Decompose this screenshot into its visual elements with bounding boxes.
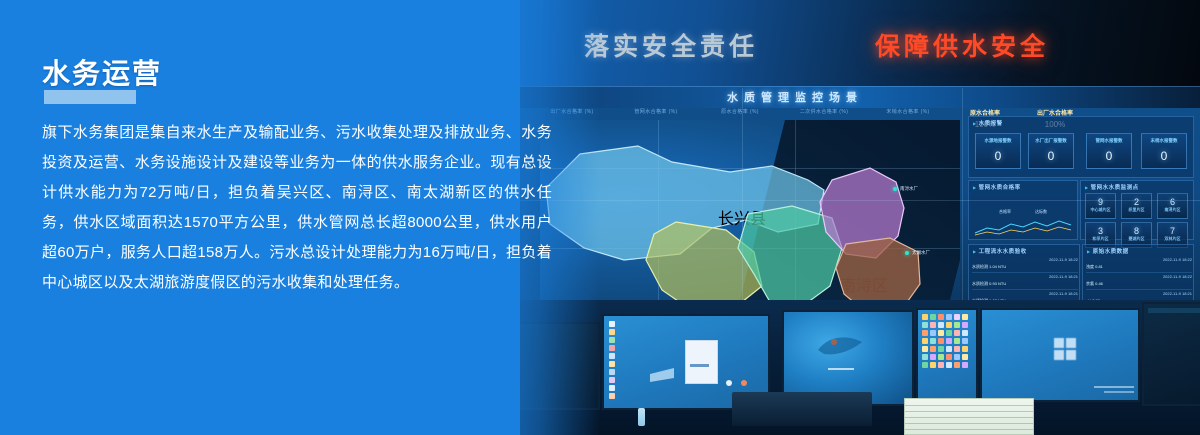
- kpi-label: 管网水合格率 (%): [614, 108, 698, 115]
- desktop-icon-grid: [922, 314, 968, 368]
- log-text: 水质检测 1.04 NTU: [972, 264, 1078, 270]
- panel-title: 原始水质数据: [1087, 247, 1129, 255]
- monitor-point-label: 南浔片区: [1158, 207, 1187, 213]
- alarm-card-label: 管网水报警数: [1087, 138, 1131, 144]
- kpi-label: 原水合格率 (%): [698, 108, 782, 115]
- monitor-point-value: 9: [1086, 197, 1115, 207]
- text-panel: 水务运营 旗下水务集团是集自来水生产及输配业务、污水收集处理及排放业务、水务投资…: [0, 0, 600, 435]
- log-time: 2022-11-9 18:22: [1086, 257, 1192, 262]
- monitor-right-dark[interactable]: [1142, 302, 1200, 406]
- legend-item: 达标数: [1035, 209, 1047, 215]
- alarm-card[interactable]: 管网水报警数 0: [1086, 133, 1132, 169]
- windows-flag-icon: [650, 368, 676, 382]
- log-time: 2022-11-9 18:21: [972, 291, 1078, 296]
- section-title: 水务运营: [42, 52, 162, 92]
- monitor-point-card[interactable]: 6 南浔片区: [1157, 193, 1188, 219]
- log-row[interactable]: 2022-11-9 18:22 水质检测 1.04 NTU: [972, 257, 1078, 273]
- monitor-point-label: 菱湖片区: [1122, 236, 1151, 242]
- wall-seam: [520, 200, 1200, 201]
- monitor-point-value: 6: [1158, 197, 1187, 207]
- dashboard-title: 水质管理监控场景: [520, 89, 1200, 105]
- legend-item: 合格率: [999, 209, 1011, 215]
- wall-seam: [962, 88, 963, 320]
- panel-raw-quality-data: 原始水质数据 2022-11-9 18:22 浊度 0.81 2022-11-9…: [1082, 244, 1194, 306]
- slogan-right: 保障供水安全: [875, 27, 1049, 63]
- monitor-point-value: 2: [1122, 197, 1151, 207]
- tray-icon: [726, 380, 732, 386]
- taskbar-hint: [828, 368, 854, 370]
- log-time: 2022-11-9 18:22: [972, 257, 1078, 262]
- log-text: 余氯 0.46: [1086, 281, 1192, 287]
- water-operations-banner: 落实安全责任 保障供水安全 水质管理监控场景 出厂水合格率 (%) 管网水合格率…: [0, 0, 1200, 435]
- diver-silhouette-icon: [812, 328, 868, 362]
- kpi-label: 二次供水合格率 (%): [782, 108, 866, 115]
- video-wall: 落实安全责任 保障供水安全 水质管理监控场景 出厂水合格率 (%) 管网水合格率…: [520, 0, 1200, 320]
- monitor-point-label: 和孚片区: [1086, 236, 1115, 242]
- panel-pipeline-quality-rate: 管网水质合格率 合格率 达标数: [968, 180, 1078, 240]
- alarm-card-value: 0: [1142, 149, 1186, 163]
- water-bottle: [638, 408, 645, 426]
- monitor-point-label: 中心城片区: [1086, 207, 1115, 213]
- monitor-point-card[interactable]: 9 中心城片区: [1085, 193, 1116, 219]
- log-row[interactable]: 2022-11-9 18:22 浊度 0.81: [1086, 257, 1192, 273]
- windows-10-logo-icon: [1054, 338, 1076, 360]
- monitor-point-label: 织里片区: [1122, 207, 1151, 213]
- panel-title: 工程流水水质验收: [973, 247, 1027, 255]
- map-poi-label[interactable]: 南浔水厂: [900, 186, 918, 192]
- panel-water-quality-alarm: 水质报警 水源地报警数 0 水厂出厂报警数 0 管网水报警数 0 末梢水报警数 …: [968, 116, 1194, 178]
- document-window[interactable]: [685, 340, 718, 384]
- title-accent-bar: [44, 90, 136, 104]
- slogan-left: 落实安全责任: [584, 27, 758, 63]
- log-time: 2022-11-9 18:22: [1086, 274, 1192, 279]
- monitor-windows-logo[interactable]: [980, 308, 1140, 402]
- wall-seam: [742, 88, 743, 320]
- panel-title: 管网水质合格率: [973, 183, 1021, 191]
- section-body: 旗下水务集团是集自来水生产及输配业务、污水收集处理及排放业务、水务投资及运营、水…: [42, 118, 552, 298]
- alarm-card[interactable]: 水厂出厂报警数 0: [1028, 133, 1074, 169]
- log-row[interactable]: 2022-11-9 18:22 余氯 0.46: [1086, 274, 1192, 290]
- monitor-point-label: 双林片区: [1158, 236, 1187, 242]
- map-poi-label[interactable]: 太湖水厂: [912, 250, 930, 256]
- alarm-card-value: 0: [1029, 149, 1073, 163]
- panel-title: 水质报警: [973, 119, 1003, 127]
- alarm-card-label: 水厂出厂报警数: [1029, 138, 1073, 144]
- spreadsheet-monitor[interactable]: [904, 398, 1034, 435]
- log-time: 2022-11-9 18:21: [972, 274, 1078, 279]
- log-text: 浊度 0.81: [1086, 264, 1192, 270]
- desktop-icon-column: [609, 321, 615, 399]
- region-map: 长兴县 安吉县 吴兴区 南浔区: [540, 120, 960, 315]
- dashboard-title-bar: 水质管理监控场景: [520, 86, 1200, 108]
- kpi-label: 末梢水合格率 (%): [866, 108, 950, 115]
- watermark-line: [1104, 391, 1134, 393]
- panel-engineering-acceptance: 工程流水水质验收 2022-11-9 18:22 水质检测 1.04 NTU 2…: [968, 244, 1080, 306]
- monitor-icons[interactable]: [916, 308, 978, 406]
- alarm-card-value: 0: [1087, 149, 1131, 163]
- titlebar: [1148, 308, 1200, 313]
- alarm-card-label: 末梢水报警数: [1142, 138, 1186, 144]
- log-text: 水质检测 0.93 NTU: [972, 281, 1078, 287]
- monitor-point-value: 3: [1086, 226, 1115, 236]
- trend-sparkline: [973, 217, 1075, 237]
- keyboard[interactable]: [732, 392, 872, 426]
- alarm-card-value: 0: [976, 149, 1020, 163]
- tray-icon-alert: [741, 380, 747, 386]
- alarm-card-label: 水源地报警数: [976, 138, 1020, 144]
- monitor-point-value: 8: [1122, 226, 1151, 236]
- log-time: 2022-11-9 18:21: [1086, 291, 1192, 296]
- panel-title: 管网水水质监测点: [1085, 183, 1139, 191]
- control-room-photo: 落实安全责任 保障供水安全 水质管理监控场景 出厂水合格率 (%) 管网水合格率…: [520, 0, 1200, 435]
- watermark-line: [1094, 386, 1134, 388]
- log-row[interactable]: 2022-11-9 18:21 水质检测 0.93 NTU: [972, 274, 1078, 290]
- panel-monitoring-points: 管网水水质监测点 9 中心城片区 2 织里片区 6 南浔片区 3 和孚片区: [1080, 180, 1194, 240]
- monitor-point-card[interactable]: 2 织里片区: [1121, 193, 1152, 219]
- alarm-card[interactable]: 水源地报警数 0: [975, 133, 1021, 169]
- alarm-card[interactable]: 末梢水报警数 0: [1141, 133, 1187, 169]
- monitor-point-value: 7: [1158, 226, 1187, 236]
- workstation-desk: [520, 300, 1200, 435]
